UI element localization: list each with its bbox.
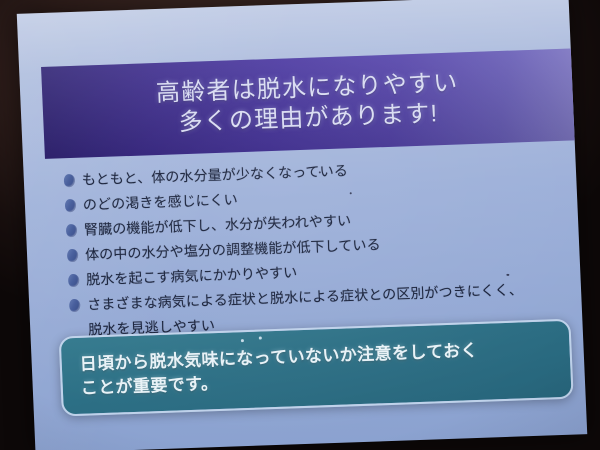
summary-callout-box: 日頃から脱水気味になっていないか注意をしておく ことが重要です。 (59, 319, 574, 417)
bullet-text: 腎臓の機能が低下し、水分が失われやすい (84, 210, 352, 240)
bullet-text: のどの渇きを感じにくい (83, 189, 239, 215)
bullet-marker-icon (64, 174, 76, 187)
bullet-marker-icon (67, 249, 79, 262)
bullet-marker-icon (65, 199, 77, 212)
bullet-text: もともと、体の水分量が少なくなっている (81, 160, 348, 190)
bullet-text: 脱水を起こす病気にかかりやすい (86, 262, 298, 290)
projection-screen: 高齢者は脱水になりやすい 多くの理由があります! もともと、体の水分量が少なくな… (17, 0, 587, 450)
slide-title-band: 高齢者は脱水になりやすい 多くの理由があります! (41, 49, 575, 159)
bullet-list: もともと、体の水分量が少なくなっている のどの渇きを感じにくい 腎臓の機能が低下… (63, 153, 570, 340)
slide-surface: 高齢者は脱水になりやすい 多くの理由があります! もともと、体の水分量が少なくな… (17, 0, 587, 450)
bullet-marker-icon (66, 224, 78, 237)
bullet-marker-icon (68, 274, 80, 287)
room-background: 高齢者は脱水になりやすい 多くの理由があります! もともと、体の水分量が少なくな… (0, 0, 600, 450)
bullet-marker-icon (69, 298, 81, 311)
